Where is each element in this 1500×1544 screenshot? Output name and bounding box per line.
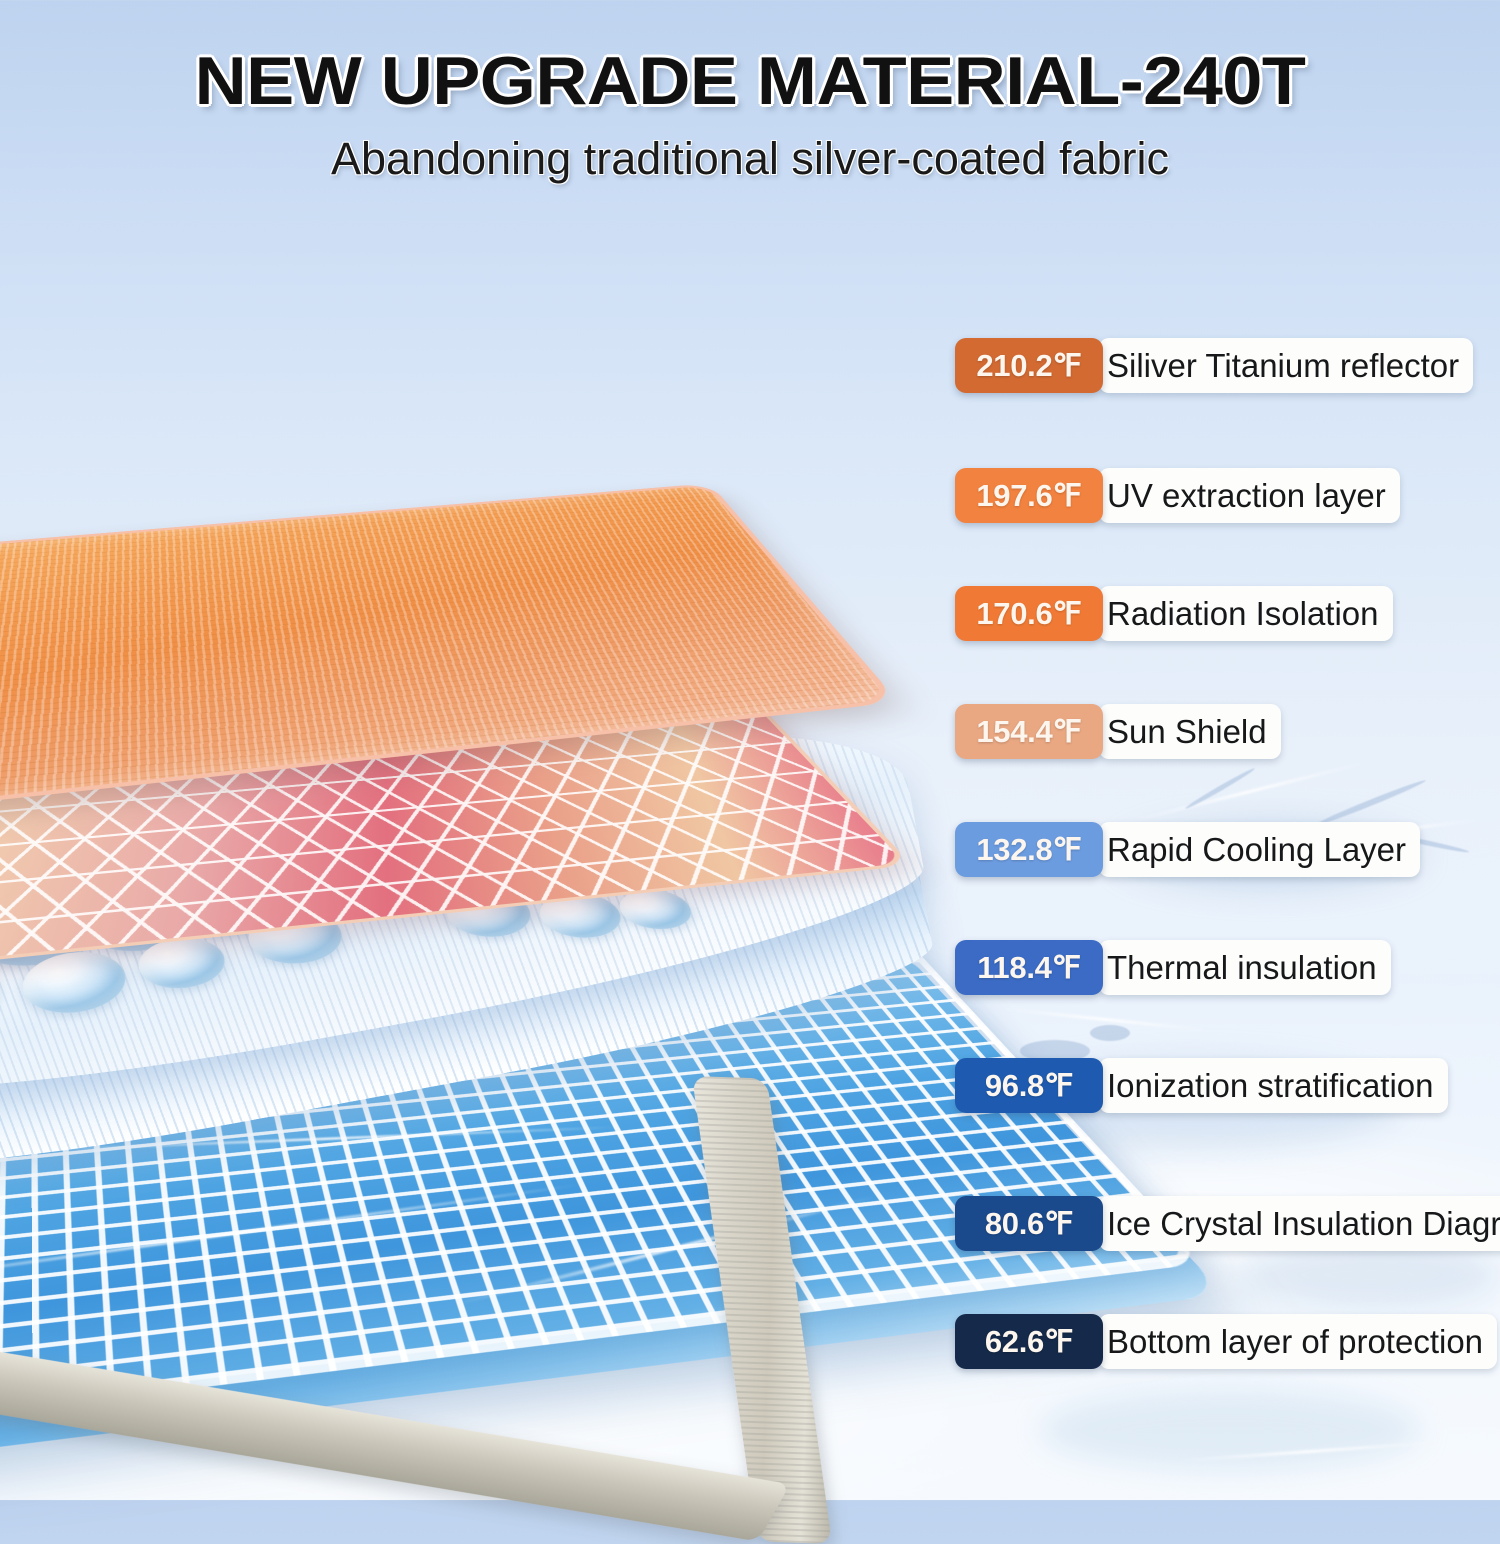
page-title: NEW UPGRADE MATERIAL-240T <box>0 46 1500 117</box>
temperature-badge: 132.8℉ <box>955 822 1103 877</box>
temperature-badge: 62.6℉ <box>955 1314 1103 1369</box>
ice-crack-1 <box>1313 778 1427 829</box>
temperature-badge: 210.2℉ <box>955 338 1103 393</box>
ice-crack-2 <box>1184 766 1256 810</box>
layer-name-label: Thermal insulation <box>1099 940 1391 995</box>
layer-row[interactable]: 96.8℉Ionization stratification <box>955 1058 1448 1113</box>
layer-name-label: Rapid Cooling Layer <box>1099 822 1420 877</box>
layer-name-label: Ice Crystal Insulation Diagram <box>1099 1196 1500 1251</box>
header: NEW UPGRADE MATERIAL-240T Abandoning tra… <box>0 46 1500 185</box>
ice-wisp-1 <box>1133 761 1367 822</box>
layer-name-label: Radiation Isolation <box>1099 586 1393 641</box>
layer-row[interactable]: 197.6℉UV extraction layer <box>955 468 1400 523</box>
layer-name-label: Siliver Titanium reflector <box>1099 338 1473 393</box>
layer-name-label: Sun Shield <box>1099 704 1281 759</box>
layer-row[interactable]: 80.6℉Ice Crystal Insulation Diagram <box>955 1196 1500 1251</box>
temperature-badge: 96.8℉ <box>955 1058 1103 1113</box>
page-subtitle: Abandoning traditional silver-coated fab… <box>0 133 1500 185</box>
layer-row[interactable]: 62.6℉Bottom layer of protection <box>955 1314 1497 1369</box>
layer-row[interactable]: 132.8℉Rapid Cooling Layer <box>955 822 1420 877</box>
layer-row[interactable]: 154.4℉Sun Shield <box>955 704 1281 759</box>
layer-name-label: Bottom layer of protection <box>1099 1314 1497 1369</box>
temperature-badge: 170.6℉ <box>955 586 1103 641</box>
layer-row[interactable]: 170.6℉Radiation Isolation <box>955 586 1393 641</box>
temperature-badge: 118.4℉ <box>955 940 1103 995</box>
fabric-layer-illustration <box>0 170 1060 1500</box>
ice-shadow-3 <box>1040 1390 1420 1470</box>
temperature-badge: 80.6℉ <box>955 1196 1103 1251</box>
temperature-badge: 154.4℉ <box>955 704 1103 759</box>
ice-crack-5 <box>1090 1025 1130 1041</box>
temperature-badge: 197.6℉ <box>955 468 1103 523</box>
ice-wisp-4 <box>1180 1441 1440 1462</box>
layer-name-label: Ionization stratification <box>1099 1058 1448 1113</box>
layer-name-label: UV extraction layer <box>1099 468 1400 523</box>
layer-row[interactable]: 118.4℉Thermal insulation <box>955 940 1391 995</box>
layer-row[interactable]: 210.2℉Siliver Titanium reflector <box>955 338 1473 393</box>
